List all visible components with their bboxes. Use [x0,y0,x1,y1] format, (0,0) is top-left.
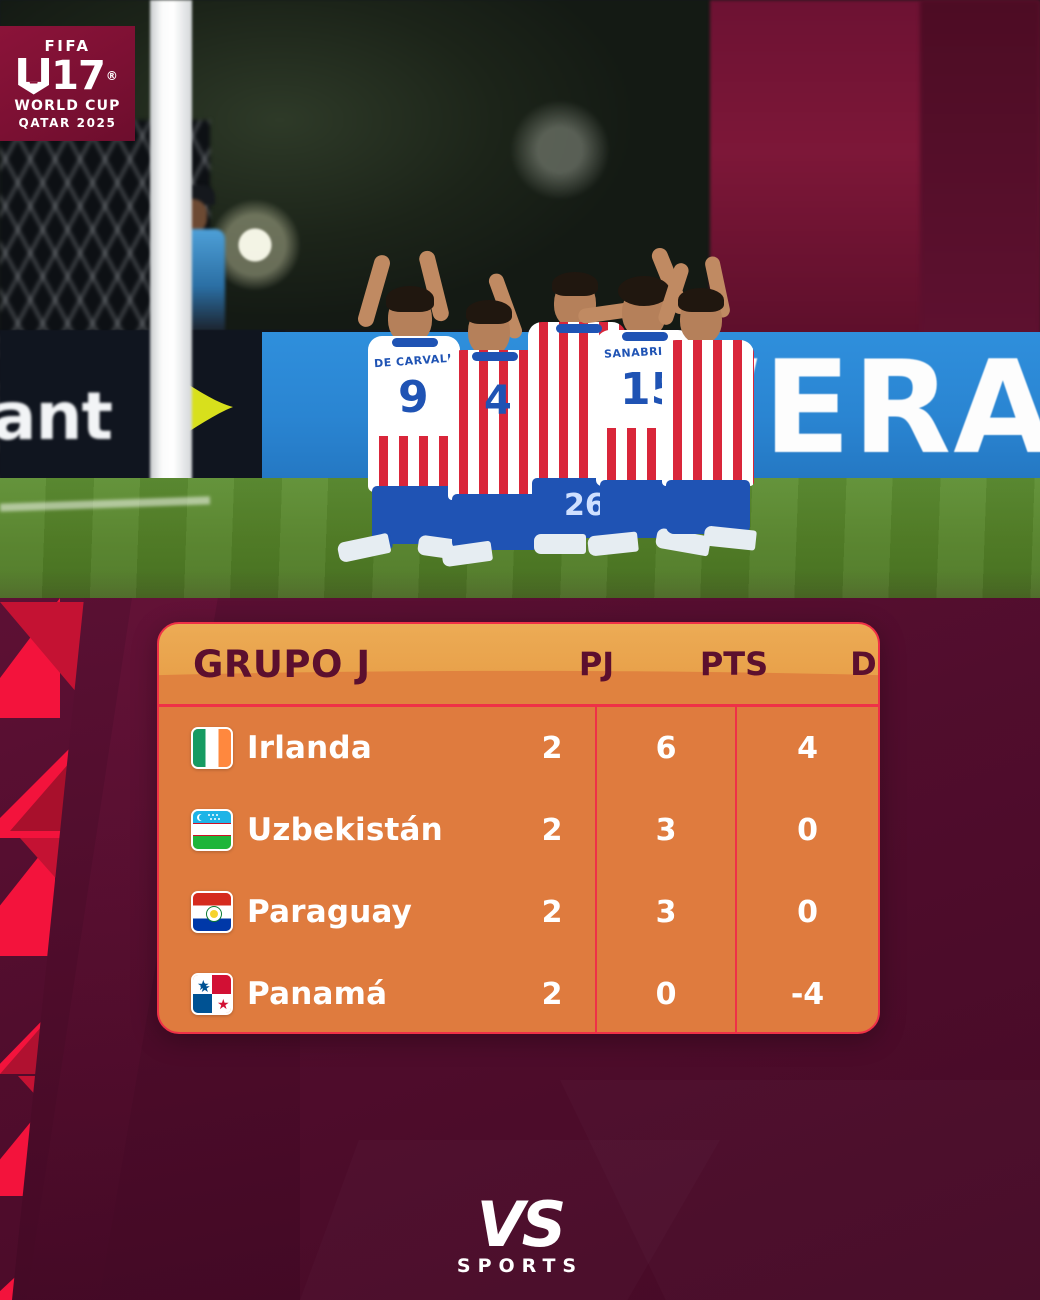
cell-dg: 4 [737,731,878,766]
table-row: ★ ★ ★ Panamá 2 0 -4 [159,953,878,1034]
cell-dg: 0 [737,813,878,848]
cell-pts: 3 [597,895,735,930]
graphic-canvas: ant WERA DE CARVALHO 9 [0,0,1040,1300]
cell-pts: 3 [597,813,735,848]
column-header-pj: PJ [529,645,664,683]
u17-mark: 17 ® [18,56,117,96]
team-name: Uzbekistán [247,812,443,848]
table-row: Paraguay 2 3 0 [159,871,878,953]
cell-pj: 2 [509,895,595,930]
u-shield-icon [18,58,49,95]
team-name: Paraguay [247,894,412,930]
page-title: GRUPO J [159,643,529,686]
column-header-dg: DG [804,645,880,683]
host-year-text: QATAR 2025 [19,116,117,130]
cell-pts: 0 [597,977,735,1012]
team-name: Panamá [247,976,387,1012]
cell-pj: 2 [509,813,595,848]
vs-logo-main: VS [477,1196,564,1253]
trademark-icon: ® [106,70,117,82]
cell-dg: 0 [737,895,878,930]
cell-pj: 2 [509,731,595,766]
team-name: Irlanda [247,730,372,766]
standings-header: GRUPO J PJ PTS DG [159,624,878,707]
column-header-pts: PTS [664,645,804,683]
paraguay-flag [191,891,233,933]
standings-body: Irlanda 2 6 4 Uzbekistán 2 [159,707,878,1032]
panama-flag: ★ ★ ★ [191,973,233,1015]
u17-number: 17 [51,56,105,96]
table-row: Irlanda 2 6 4 [159,707,878,789]
vs-sports-logo: VS SPORTS [0,1196,1040,1277]
player-shirt-number: 4 [484,378,512,424]
cell-pts: 6 [597,731,735,766]
cell-dg: -4 [737,977,878,1012]
stadium-wall-shadow [920,0,1040,340]
table-row: Uzbekistán 2 3 0 [159,789,878,871]
player-fifth [658,256,778,536]
world-cup-text: WORLD CUP [14,98,120,114]
fifa-u17-world-cup-logo: FIFA 17 ® WORLD CUP QATAR 2025 [0,26,135,141]
standings-card: GRUPO J PJ PTS DG Irlanda 2 6 4 [157,622,880,1034]
vs-logo-sub: SPORTS [457,1255,583,1277]
ad-board-left-text: ant [0,378,112,455]
celebrating-players: DE CARVALHO 9 4 [290,240,720,550]
match-photo: ant WERA DE CARVALHO 9 [0,0,1040,640]
player-shirt-number: 9 [398,372,429,423]
uzbekistan-flag [191,809,233,851]
ireland-flag [191,727,233,769]
cell-pj: 2 [509,977,595,1012]
